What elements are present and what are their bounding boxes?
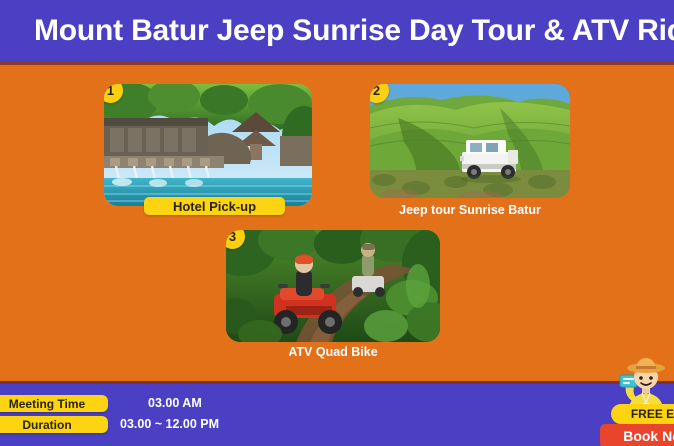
atv-quad-bike-jungle-photo (226, 230, 440, 342)
meeting-time-label: Meeting Time (0, 395, 108, 412)
tour-step-card-3[interactable]: 3 (226, 230, 440, 342)
meeting-time-value: 03.00 AM (148, 396, 202, 410)
bottom-info-bar: Meeting Time 03.00 AM Duration 03.00 ~ 1… (0, 384, 674, 446)
duration-value: 03.00 ~ 12.00 PM (120, 417, 219, 431)
page-header: Mount Batur Jeep Sunrise Day Tour & ATV … (0, 0, 674, 62)
header-divider (0, 62, 674, 65)
book-now-button[interactable]: Book No (600, 424, 674, 446)
balinese-water-temple-photo (104, 84, 312, 206)
free-eticket-badge: FREE E-S (611, 404, 674, 424)
card-caption-atv-quad-bike: ATV Quad Bike (226, 345, 440, 359)
jeep-on-green-hills-photo (370, 84, 570, 198)
page-title: Mount Batur Jeep Sunrise Day Tour & ATV … (0, 14, 674, 48)
tour-step-card-1[interactable]: 1 (104, 84, 312, 206)
tour-promo-page: Mount Batur Jeep Sunrise Day Tour & ATV … (0, 0, 674, 446)
tour-step-card-2[interactable]: 2 (370, 84, 570, 198)
card-caption-hotel-pickup: Hotel Pick-up (144, 197, 285, 215)
duration-label: Duration (0, 416, 108, 433)
card-caption-jeep-tour: Jeep tour Sunrise Batur (370, 203, 570, 217)
